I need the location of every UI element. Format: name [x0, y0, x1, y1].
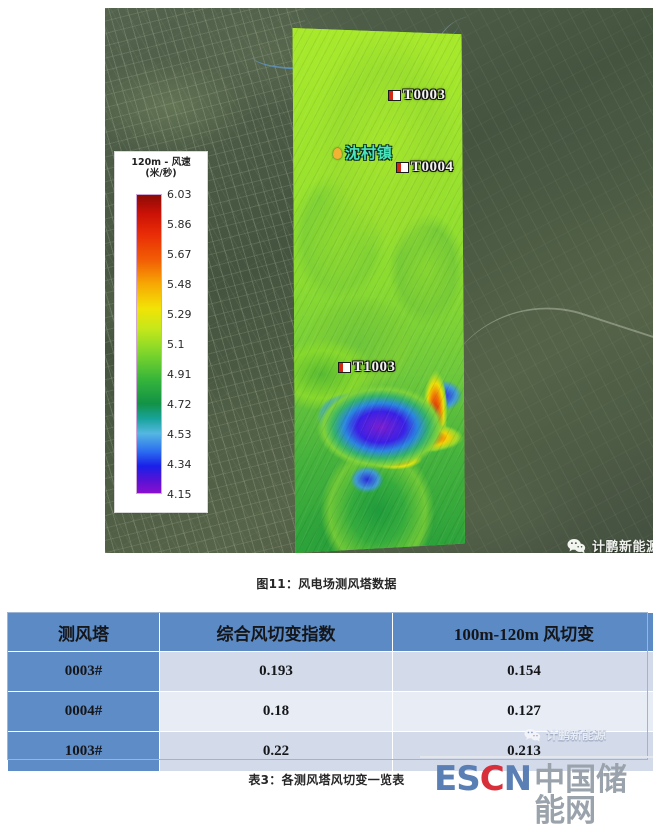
wechat-icon: [567, 538, 586, 554]
escn-prefix: ES: [434, 759, 480, 799]
wind-speed-raster: [290, 28, 465, 553]
tower-label: T0004: [411, 160, 454, 175]
tower-label: T1003: [353, 360, 396, 375]
legend-tick: 4.91: [167, 369, 192, 380]
legend-colorbar: [136, 194, 162, 494]
tower-marker-t0003[interactable]: T0003: [388, 88, 446, 103]
escn-suffix: N: [504, 759, 531, 799]
place-label-shencunzhen: 沈村镇: [333, 146, 393, 161]
cell-composite: 0.18: [160, 692, 393, 732]
table-watermark-text: 计鹏新能源: [546, 726, 606, 743]
table-header-row: 测风塔 综合风切变指数 100m-120m 风切变: [8, 613, 653, 652]
table-header-tower: 测风塔: [8, 613, 160, 652]
place-marker-icon: [333, 148, 342, 159]
legend-tick: 5.1: [167, 339, 185, 350]
legend-tick: 5.29: [167, 309, 192, 320]
tower-flag-icon: [396, 162, 409, 173]
cell-tower: 1003#: [8, 732, 160, 772]
figure-caption: 图11：风电场测风塔数据: [0, 575, 653, 592]
cell-composite: 0.22: [160, 732, 393, 772]
tower-flag-icon: [338, 362, 351, 373]
cell-composite: 0.193: [160, 652, 393, 692]
map-watermark: 计鹏新能源: [567, 536, 653, 553]
table-row: 0003# 0.193 0.154: [8, 652, 653, 692]
place-name: 沈村镇: [345, 146, 393, 161]
table-watermark: 计鹏新能源: [524, 726, 606, 743]
tower-marker-t1003[interactable]: T1003: [338, 360, 396, 375]
tower-label: T0003: [403, 88, 446, 103]
legend-tick: 6.03: [167, 189, 192, 200]
table-header-range: 100m-120m 风切变: [393, 613, 653, 652]
footer-divider: [420, 756, 653, 758]
legend-tick: 5.86: [167, 219, 192, 230]
wind-shear-table: 测风塔 综合风切变指数 100m-120m 风切变 0003# 0.193 0.…: [7, 612, 653, 772]
legend-tick: 4.72: [167, 399, 192, 410]
escn-logo-chinese: 中国储能网: [534, 765, 653, 827]
table-header-composite: 综合风切变指数: [160, 613, 393, 652]
legend-title: 120m - 风速 (米/秒): [115, 152, 207, 179]
escn-logo: ESCN 中国储能网: [434, 762, 653, 827]
cell-range: 0.127: [393, 692, 653, 732]
cell-tower: 0003#: [8, 652, 160, 692]
legend-tick: 4.15: [167, 489, 192, 500]
legend-tick: 4.53: [167, 429, 192, 440]
raster-hillshade: [290, 28, 465, 553]
escn-accent: C: [480, 759, 504, 799]
legend-tick: 5.67: [167, 249, 192, 260]
wechat-icon: [524, 728, 541, 742]
legend-body: 6.03 5.86 5.67 5.48 5.29 5.1 4.91 4.72 4…: [115, 185, 207, 508]
escn-logo-latin: ESCN: [434, 762, 531, 796]
cell-tower: 0004#: [8, 692, 160, 732]
legend-tick: 5.48: [167, 279, 192, 290]
document-page: T0003 T0004 T1003 沈村镇 计鹏新能源: [0, 0, 653, 800]
map-watermark-text: 计鹏新能源: [592, 536, 653, 553]
cell-range: 0.154: [393, 652, 653, 692]
legend-tick-labels: 6.03 5.86 5.67 5.48 5.29 5.1 4.91 4.72 4…: [167, 185, 207, 501]
legend-tick: 4.34: [167, 459, 192, 470]
map-legend: 120m - 风速 (米/秒) 6.03 5.86 5.67 5.48 5.29…: [114, 151, 208, 513]
tower-flag-icon: [388, 90, 401, 101]
tower-marker-t0004[interactable]: T0004: [396, 160, 454, 175]
